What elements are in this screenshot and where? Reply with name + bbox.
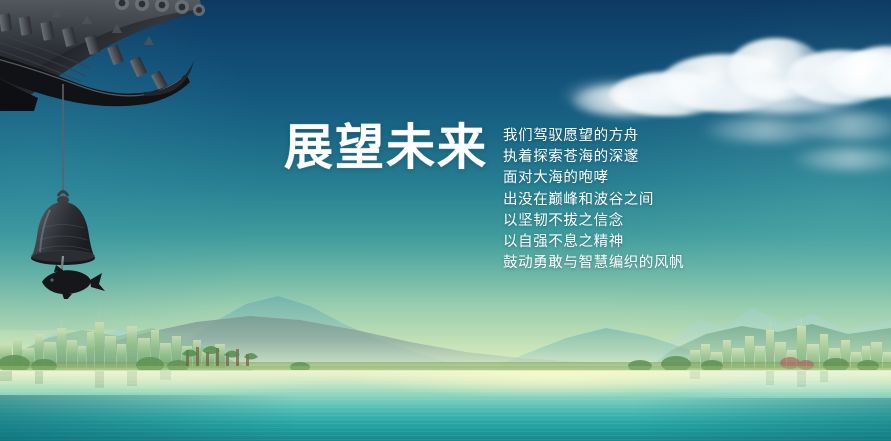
poem-line: 执着探索苍海的深邃: [503, 147, 684, 168]
tree-line: [0, 344, 891, 370]
poem-line: 出没在巅峰和波谷之间: [503, 190, 684, 211]
poem-block: 我们驾驭愿望的方舟 执着探索苍海的深邃 面对大海的咆哮 出没在巅峰和波谷之间 以…: [503, 126, 684, 274]
banner-image: 展望未来 我们驾驭愿望的方舟 执着探索苍海的深邃 面对大海的咆哮 出没在巅峰和波…: [0, 0, 891, 441]
fish-pendant: [42, 265, 105, 299]
poem-line: 面对大海的咆哮: [503, 168, 684, 189]
water-shadow-left: [0, 395, 300, 441]
page-title: 展望未来: [284, 122, 488, 174]
water-shadow-right: [631, 398, 891, 441]
poem-line: 以自强不息之精神: [503, 232, 684, 253]
poem-line: 以坚韧不拔之信念: [503, 211, 684, 232]
poem-line: 我们驾驭愿望的方舟: [503, 126, 684, 147]
wind-bell: [20, 84, 110, 299]
poem-line: 鼓动勇敢与智慧编织的风帆: [503, 253, 684, 274]
